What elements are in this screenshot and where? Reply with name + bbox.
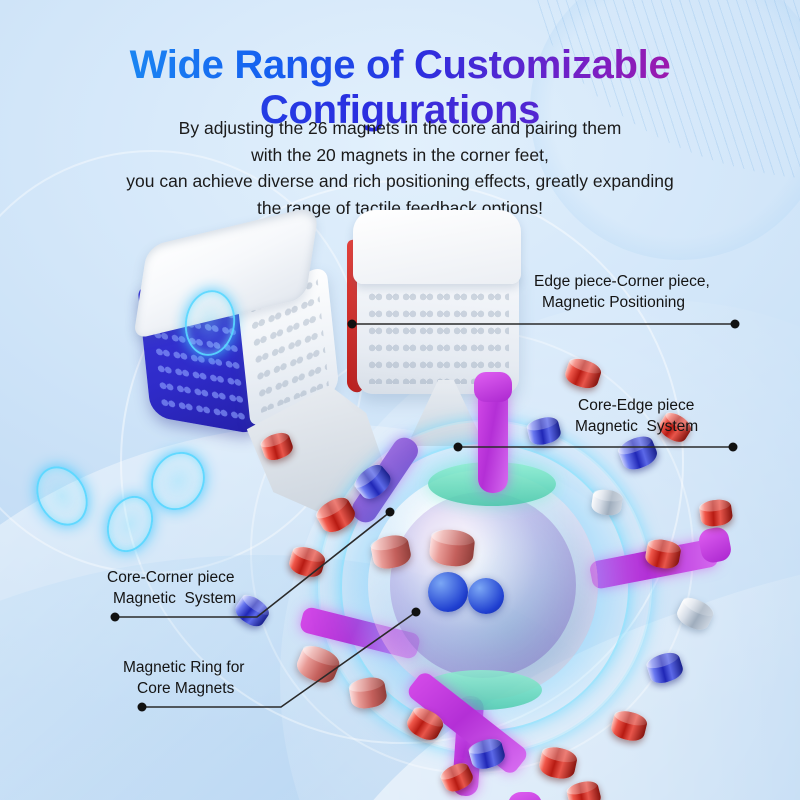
edge-piece [345,210,545,445]
callout-core-corner-line2: Magnetic System [113,589,236,609]
callout-edge-corner-line2: Magnetic Positioning [542,293,685,313]
disc-magnet [565,779,603,800]
subtitle-line-2: with the 20 magnets in the corner feet, [0,142,800,169]
subtitle-line-1: By adjusting the 26 magnets in the core … [0,115,800,142]
callout-core-edge-line2: Magnetic System [575,417,698,437]
infographic-canvas: Wide Range of Customizable Configuration… [0,0,800,800]
heart-texture-icon [367,274,509,384]
disc-magnet [645,649,686,686]
callout-edge-corner-line1: Edge piece-Corner piece, [534,272,710,292]
magnetic-link-glow-icon [26,457,97,534]
disc-magnet [609,708,649,743]
edge-piece-top-face [353,210,521,284]
core-inner-sphere [468,578,504,614]
callout-magnetic-ring-line1: Magnetic Ring for [123,658,244,678]
magnetic-link-glow-icon [141,442,215,519]
magnetic-link-glow-icon [99,489,162,559]
core-axle-top-cap [474,372,512,402]
disc-magnet [231,591,272,630]
disc-magnet [537,745,578,782]
disc-magnet [616,432,661,473]
callout-magnetic-ring-line2: Core Magnets [137,679,234,699]
disc-magnet [698,498,733,528]
callout-core-corner-line1: Core-Corner piece [107,568,235,588]
subtitle-line-3: you can achieve diverse and rich positio… [0,168,800,195]
core-inner-sphere [428,572,468,612]
core-axle-bottom-left-cap [508,792,542,800]
disc-magnet [563,355,604,391]
callout-core-edge-line1: Core-Edge piece [578,396,694,416]
disc-magnet [674,594,717,634]
title-line-1: Wide Range of Customizable [0,43,800,89]
